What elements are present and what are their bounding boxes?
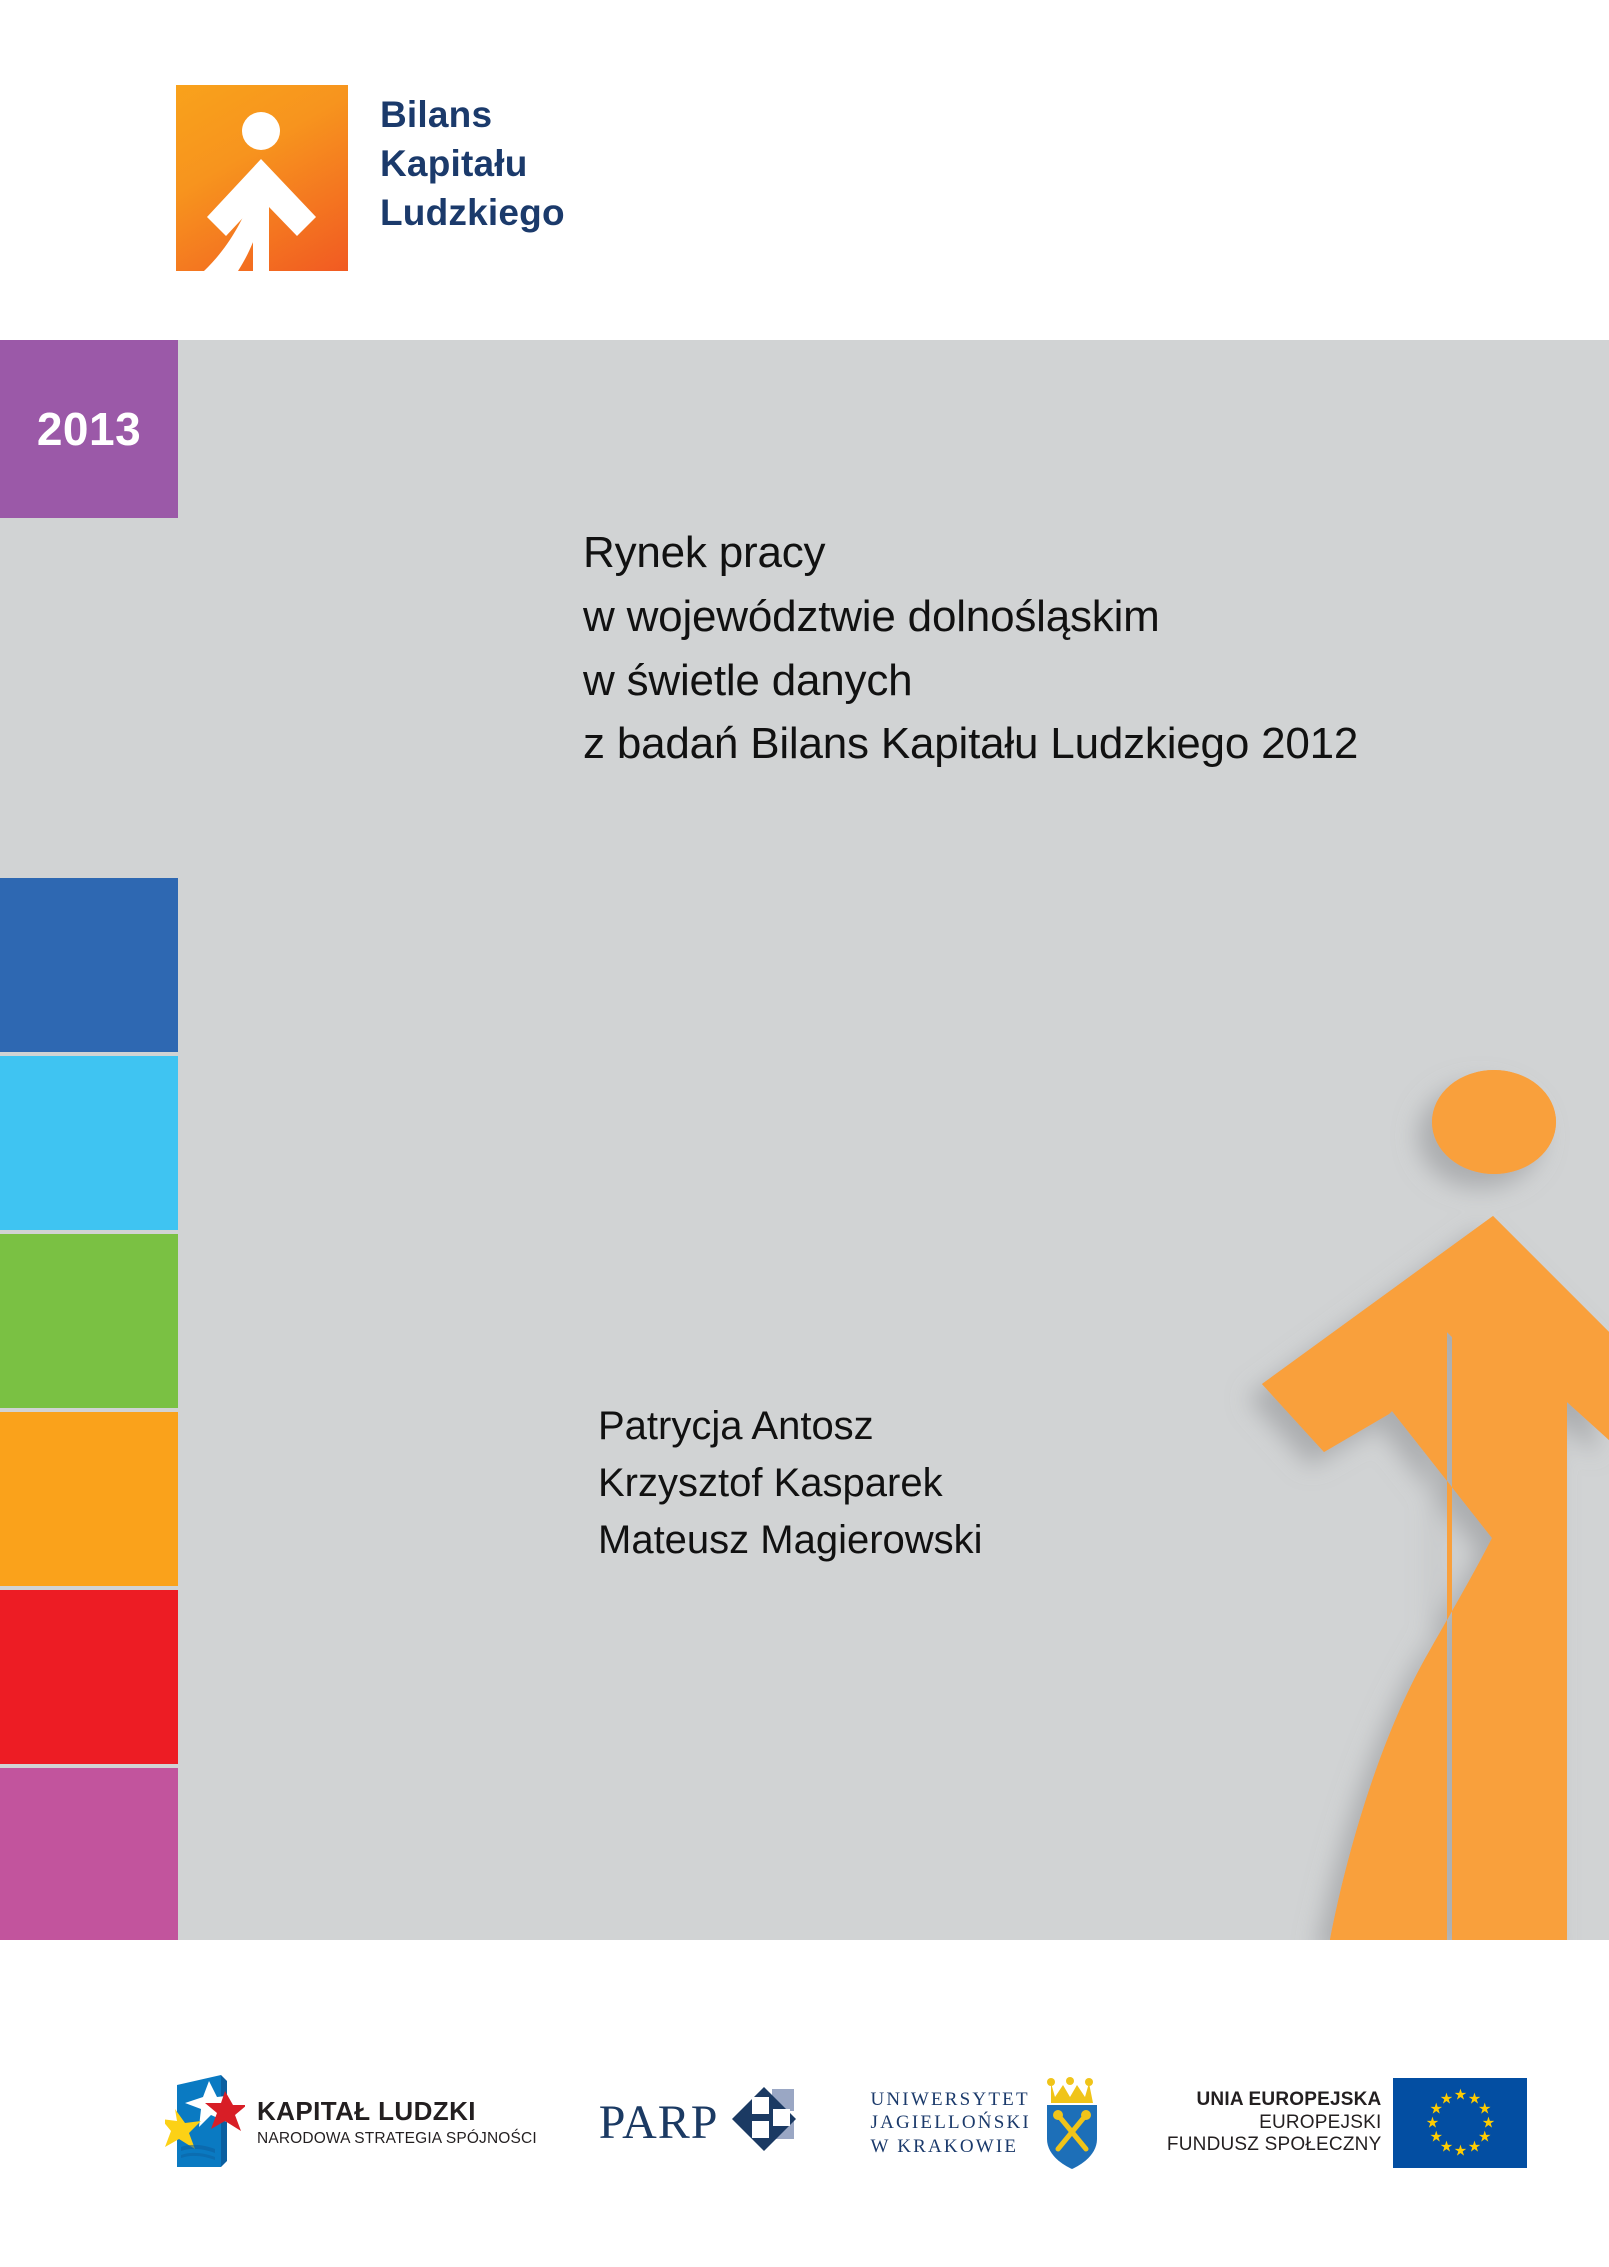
page-title: Rynek pracy w województwie dolnośląskim … [583,521,1483,776]
grid-block-blue [0,878,178,1052]
footer: KAPITAŁ LUDZKI NARODOWA STRATEGIA SPÓJNO… [0,1940,1609,2267]
grid-block-orange [0,1412,178,1586]
grid-cell-c3-r2 [358,522,530,696]
logo-unia-europejska: UNIA EUROPEJSKA EUROPEJSKI FUNDUSZ SPOŁE… [1167,2078,1528,2168]
grid-cell-c2-r9 [182,1768,354,1940]
grid-block-green [0,1234,178,1408]
logo-kapital-ludzki: KAPITAŁ LUDZKI NARODOWA STRATEGIA SPÓJNO… [165,2075,537,2172]
kl-main-label: KAPITAŁ LUDZKI [257,2098,537,2125]
kl-stars-flag-icon [165,2075,245,2172]
grid-cell-merged-mid [182,878,530,1408]
uj-line-3: W KRAKOWIE [870,2135,1030,2158]
uj-crown-shield-icon [1043,2073,1105,2174]
grid-block-gray-1 [0,522,178,696]
parp-wordmark: PARP [599,2099,719,2147]
brand-logo: Bilans Kapitału Ludzkiego [176,85,565,271]
author-name: Patrycja Antosz [598,1398,983,1455]
grid-block-magenta [0,1768,178,1940]
uj-line-2: JAGIELLOŃSKI [870,2111,1030,2134]
grid-cell-c2-r2 [182,522,354,696]
grid-cell-c3-r7 [358,1412,530,1586]
eu-star-icon: ★ [1440,2091,1453,2106]
grid-block-red [0,1590,178,1764]
eu-line-2: EUROPEJSKI [1259,2112,1381,2135]
brand-line-1: Bilans [380,91,565,140]
person-rising-arrow-icon [1000,1010,1609,1940]
title-line-4: z badań Bilans Kapitału Ludzkiego 2012 [583,712,1483,776]
grid-cell-c2-r3 [182,700,354,874]
footer-logo-row: KAPITAŁ LUDZKI NARODOWA STRATEGIA SPÓJNO… [165,2068,1445,2178]
grid-cell-c2-r7 [182,1412,354,1586]
kl-sub-label: NARODOWA STRATEGIA SPÓJNOŚCI [257,2130,537,2148]
eu-star-icon: ★ [1454,2088,1467,2103]
uj-line-1: UNIWERSYTET [870,2088,1030,2111]
eu-star-icon: ★ [1468,2140,1481,2155]
walking-person-arrow-icon [176,85,348,271]
eu-line-3: FUNDUSZ SPOŁECZNY [1167,2134,1382,2157]
eu-star-icon: ★ [1454,2144,1467,2159]
author-name: Mateusz Magierowski [598,1512,983,1569]
grid-block-purple [0,340,178,518]
title-line-2: w województwie dolnośląskim [583,585,1483,649]
title-line-1: Rynek pracy [583,521,1483,585]
title-line-3: w świetle danych [583,649,1483,713]
parp-diamond-icon [732,2083,808,2164]
eu-star-icon: ★ [1429,2130,1442,2145]
brand-wordmark: Bilans Kapitału Ludzkiego [380,85,565,237]
brand-line-2: Kapitału [380,140,565,189]
grid-cell-c3-r3 [358,700,530,874]
grid-cell-c2-r8 [182,1590,354,1764]
grid-cell-c3-r9 [358,1768,530,1940]
logo-parp: PARP [599,2083,809,2164]
eu-line-1: UNIA EUROPEJSKA [1197,2089,1382,2112]
authors-list: Patrycja Antosz Krzysztof Kasparek Mateu… [598,1398,983,1568]
grid-block-cyan [0,1056,178,1230]
eu-star-icon: ★ [1426,2116,1439,2131]
grid-cell-c3-r8 [358,1590,530,1764]
grid-cell-c3-r1 [358,340,530,518]
logo-uniwersytet-jagiellonski: UNIWERSYTET JAGIELLOŃSKI W KRAKOWIE [870,2073,1104,2174]
brand-line-3: Ludzkiego [380,189,565,238]
grid-cell-c2-r1 [182,340,354,518]
author-name: Krzysztof Kasparek [598,1455,983,1512]
grid-block-gray-2 [0,700,178,874]
eu-flag-icon: ★★★★★★★★★★★★ [1393,2078,1527,2168]
